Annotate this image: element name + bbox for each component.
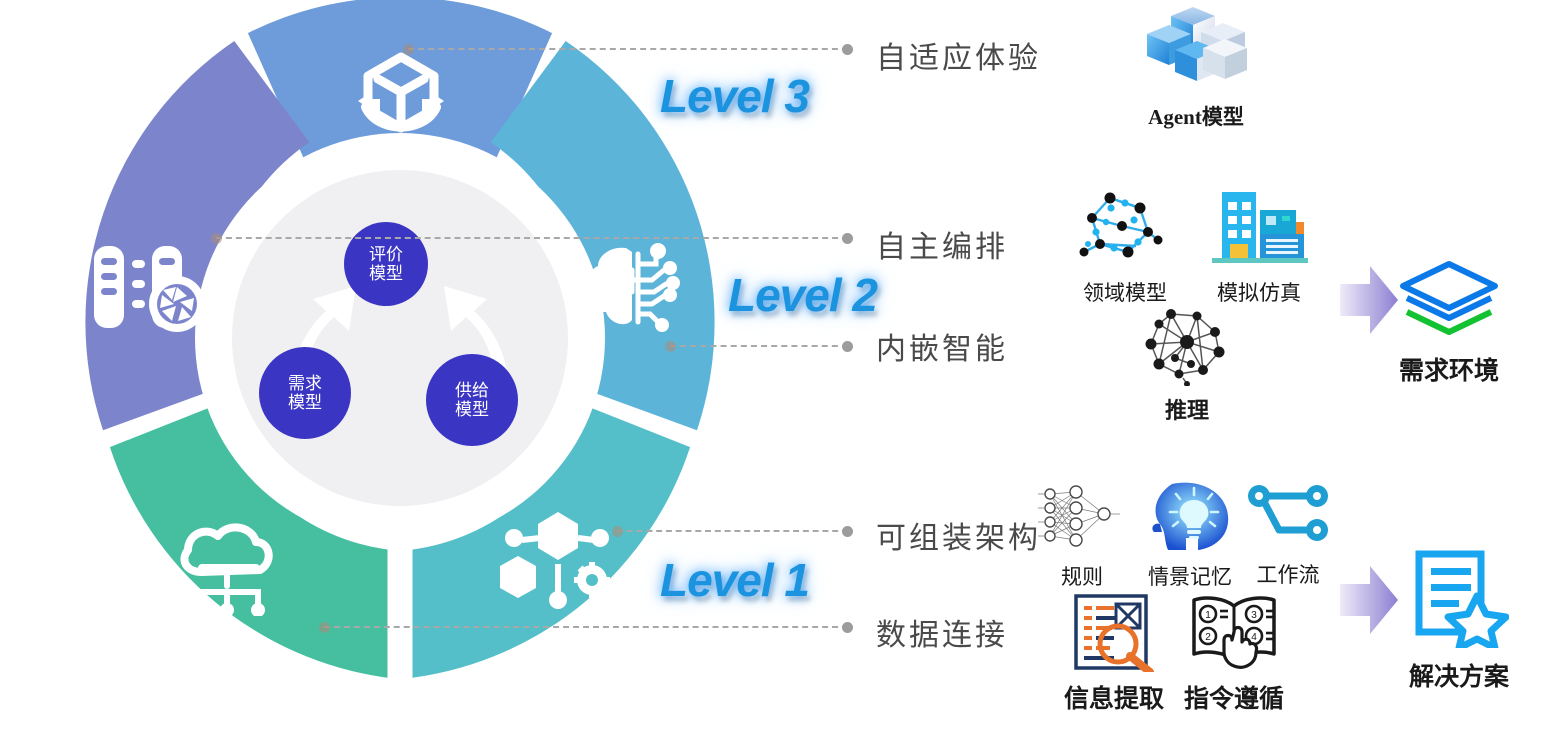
capability-icon-caption: 推理 (1128, 393, 1246, 425)
capability-icon-episodic-memory[interactable]: 情景记忆 (1138, 478, 1242, 591)
outcome-caption: 需求环境 (1390, 351, 1508, 387)
core-bubble-supply[interactable]: 供给 模型 (426, 354, 518, 446)
capability-icon-instruction-following[interactable]: 12 34 指令遵循 (1176, 592, 1292, 715)
neural-network-icon (1036, 482, 1128, 554)
connector-dash (408, 48, 848, 50)
level-badge-2: Level 2 (728, 268, 877, 322)
connector-dash (216, 237, 848, 239)
core-bubble-line1: 供给 (455, 381, 489, 400)
level-badge-3: Level 3 (660, 69, 809, 123)
capability-icon-caption: 领域模型 (1066, 277, 1184, 307)
connector-start-dot (211, 233, 222, 244)
connector-end-dot (842, 526, 853, 537)
capability-icon-caption: 情景记忆 (1138, 561, 1242, 591)
core-bubble-demand[interactable]: 需求 模型 (259, 347, 351, 439)
core-bubble-line2: 模型 (455, 400, 489, 419)
right-arrow-icon (1338, 562, 1400, 638)
capability-icon-caption: 模拟仿真 (1200, 277, 1318, 307)
capability-icon-reasoning[interactable]: 推理 (1128, 308, 1246, 425)
capability-icon-information-extraction[interactable]: 信息提取 (1056, 592, 1172, 715)
document-magnifier-icon (1066, 592, 1162, 672)
brain-graph-icon (1135, 308, 1239, 386)
capability-label-adaptive: 自适应体验 (876, 33, 1041, 77)
molecule-network-icon (1070, 188, 1180, 270)
connector-dash (324, 626, 848, 628)
capability-icon-caption: Agent模型 (1128, 101, 1264, 131)
capability-label-embedded: 内嵌智能 (876, 324, 1008, 368)
outcome-caption: 解决方案 (1400, 657, 1518, 693)
capability-icon-caption: 工作流 (1242, 559, 1334, 589)
capability-icon-domain-model[interactable]: 领域模型 (1066, 188, 1184, 307)
core-bubble-line2: 模型 (288, 393, 322, 412)
workflow-nodes-icon (1245, 482, 1331, 552)
outcome-solution[interactable]: 解决方案 (1400, 548, 1518, 693)
capability-label-orchestration: 自主编排 (876, 222, 1008, 266)
connector-end-dot (842, 622, 853, 633)
connector-orchestration (216, 237, 848, 239)
document-star-icon (1409, 548, 1509, 648)
connector-end-dot (842, 44, 853, 55)
capability-icon-simulation[interactable]: 模拟仿真 (1200, 188, 1318, 307)
connector-start-dot (403, 44, 414, 55)
core-bubble-evaluation[interactable]: 评价 模型 (344, 222, 428, 306)
connector-dash (670, 345, 848, 347)
core-bubble-line1: 评价 (369, 245, 403, 264)
connector-embedded (670, 345, 848, 347)
connector-adaptive (408, 48, 848, 50)
layer-stack-icon (1397, 260, 1501, 342)
book-hand-icon: 12 34 (1186, 592, 1282, 672)
buildings-icon (1204, 188, 1314, 270)
capability-icon-agent[interactable]: Agent模型 (1128, 6, 1264, 131)
level-badge-1: Level 1 (660, 553, 809, 607)
svg-text:2: 2 (1205, 632, 1211, 643)
connector-start-dot (319, 622, 330, 633)
svg-text:1: 1 (1205, 610, 1211, 621)
connector-composable (617, 530, 848, 532)
capability-icon-caption: 指令遵循 (1176, 679, 1292, 715)
isometric-cubes-icon (1141, 6, 1251, 94)
capability-icon-caption: 规则 (1036, 561, 1128, 591)
connector-dash (617, 530, 848, 532)
core-bubble-line1: 需求 (288, 374, 322, 393)
svg-text:3: 3 (1251, 610, 1257, 621)
capability-icon-rules[interactable]: 规则 (1036, 482, 1128, 591)
connector-data (324, 626, 848, 628)
svg-text:4: 4 (1251, 632, 1257, 643)
capability-icon-caption: 信息提取 (1056, 679, 1172, 715)
connector-start-dot (665, 341, 676, 352)
capability-icon-workflow[interactable]: 工作流 (1242, 482, 1334, 589)
capability-label-data: 数据连接 (876, 610, 1008, 654)
capability-label-composable: 可组装架构 (876, 513, 1041, 557)
connector-end-dot (842, 341, 853, 352)
outcome-demand-environment[interactable]: 需求环境 (1390, 260, 1508, 387)
head-lightbulb-icon (1142, 478, 1238, 554)
connector-end-dot (842, 233, 853, 244)
core-bubble-line2: 模型 (369, 264, 403, 283)
connector-start-dot (612, 526, 623, 537)
